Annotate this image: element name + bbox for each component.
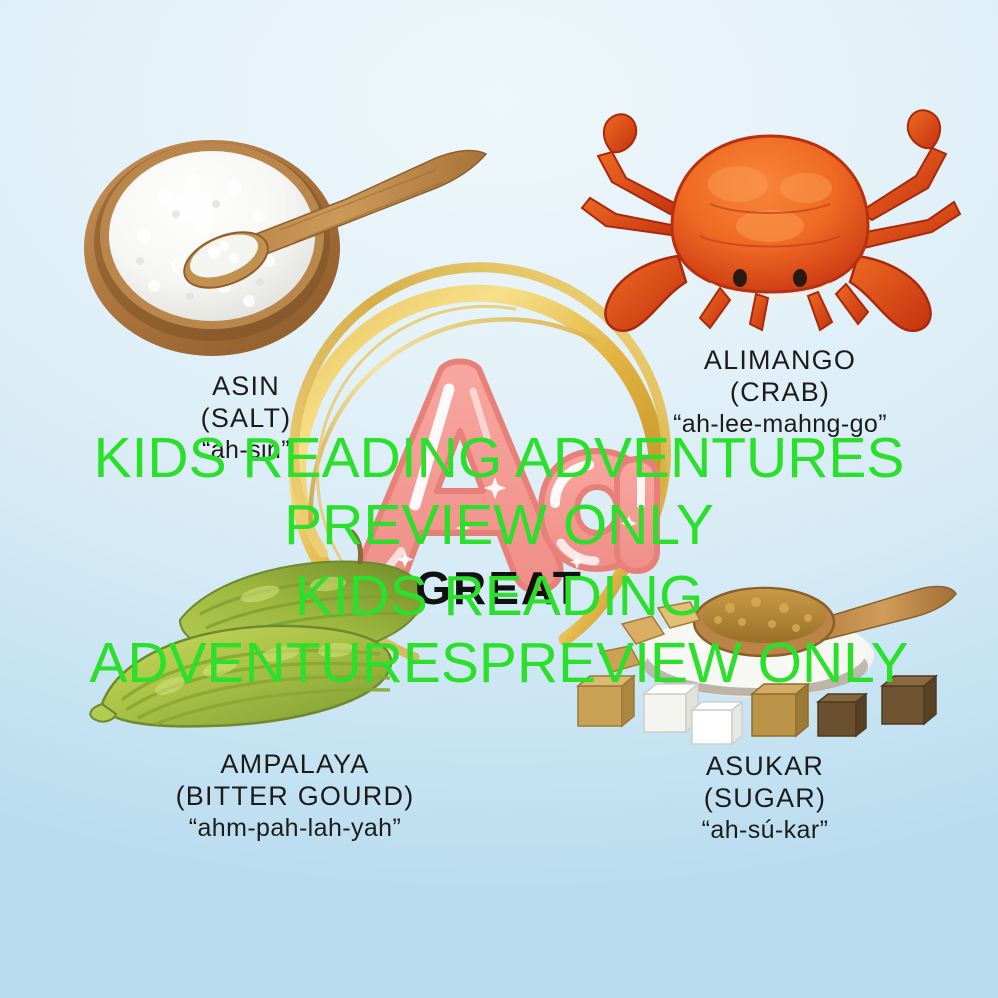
crab-caption: ALIMANGO (CRAB) “ah-lee-mahng-go”	[580, 345, 980, 439]
bitter-gourd-word: AMPALAYA	[60, 749, 530, 781]
crab-word: ALIMANGO	[580, 345, 980, 377]
salt-pronunciation: “ah-sin”	[0, 436, 514, 465]
crab-translation: (CRAB)	[580, 377, 980, 409]
vocab-item-crab: ALIMANGO (CRAB) “ah-lee-mahng-go”	[560, 96, 980, 439]
bitter-gourd-translation: (BITTER GOURD)	[60, 781, 530, 813]
sugar-pronunciation: “ah-sú-kar”	[550, 816, 980, 845]
sugar-translation: (SUGAR)	[550, 783, 980, 815]
sugar-word: ASUKAR	[550, 751, 980, 783]
flashcard-canvas: ASIN (SALT) “ah-sin”	[0, 0, 998, 998]
salt-photo	[44, 96, 514, 361]
lowercase-a-shape	[541, 451, 657, 571]
salt-caption: ASIN (SALT) “ah-sin”	[0, 371, 514, 465]
bitter-gourd-caption: AMPALAYA (BITTER GOURD) “ahm-pah-lah-yah…	[60, 749, 530, 843]
center-hidden-word: GREAT	[0, 561, 998, 615]
bitter-gourd-pronunciation: “ahm-pah-lah-yah”	[60, 814, 530, 843]
sugar-caption: ASUKAR (SUGAR) “ah-sú-kar”	[550, 751, 980, 845]
crab-pronunciation: “ah-lee-mahng-go”	[580, 410, 980, 439]
salt-word: ASIN	[0, 371, 514, 403]
crab-photo	[560, 96, 980, 341]
salt-translation: (SALT)	[0, 403, 514, 435]
vocab-item-salt: ASIN (SALT) “ah-sin”	[44, 96, 514, 465]
